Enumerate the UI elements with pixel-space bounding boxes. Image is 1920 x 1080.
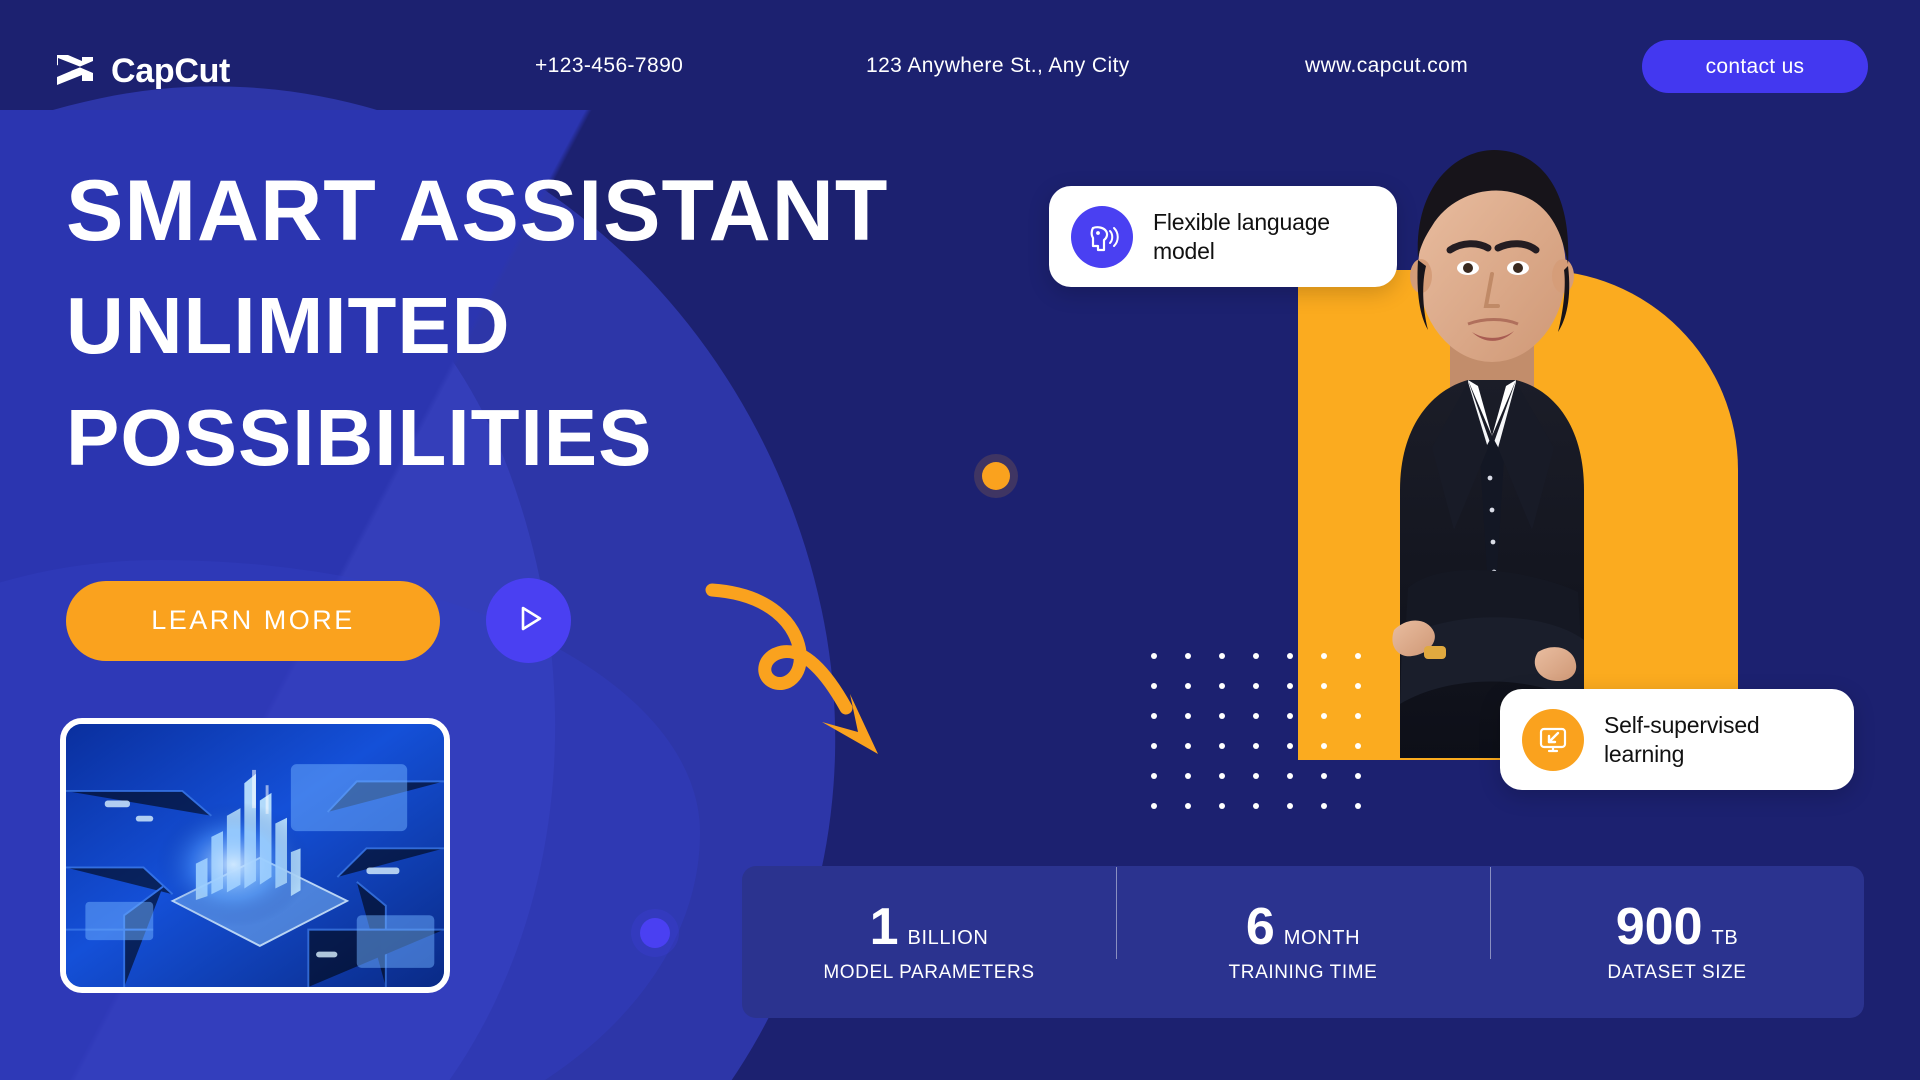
stat-caption: DATASET SIZE [1490,962,1864,984]
stat-unit: BILLION [908,927,989,950]
monitor-arrow-icon [1522,709,1584,771]
capcut-logo-icon [52,48,98,94]
feature-card-label: Self-supervised learning [1604,711,1824,769]
brand-logo[interactable]: CapCut [52,48,230,94]
stat-value: 900 [1616,901,1703,953]
stat-unit: MONTH [1284,927,1360,950]
feature-card-flexible-language-model[interactable]: Flexible language model [1049,186,1397,287]
hero-banner: CapCut +123-456-7890 123 Anywhere St., A… [0,0,1920,1080]
stat-value-row: 1 BILLION [742,901,1116,953]
stat-value: 6 [1246,901,1275,953]
cta-row: LEARN MORE [66,578,571,663]
feature-card-label: Flexible language model [1153,208,1367,266]
header-website[interactable]: www.capcut.com [1305,54,1468,78]
headline-line-1: SMART ASSISTANT [66,168,888,254]
stat-caption: MODEL PARAMETERS [742,962,1116,984]
stat-value-row: 900 TB [1490,901,1864,953]
stat-training-time: 6 MONTH TRAINING TIME [1116,901,1490,984]
feature-card-self-supervised-learning[interactable]: Self-supervised learning [1500,689,1854,790]
decorative-dot-blue [640,918,670,948]
header-address[interactable]: 123 Anywhere St., Any City [866,54,1130,78]
curved-arrow-icon [700,572,940,797]
play-icon [509,599,549,642]
stat-dataset-size: 900 TB DATASET SIZE [1490,901,1864,984]
stat-model-parameters: 1 BILLION MODEL PARAMETERS [742,901,1116,984]
header-phone[interactable]: +123-456-7890 [535,54,683,78]
stat-value-row: 6 MONTH [1116,901,1490,953]
stat-caption: TRAINING TIME [1116,962,1490,984]
decorative-dot-orange [982,462,1010,490]
tech-city-circuit-image[interactable] [60,718,450,993]
hero-headline: SMART ASSISTANT UNLIMITED POSSIBILITIES [66,168,888,478]
brand-logo-text: CapCut [111,52,230,91]
dotted-grid-pattern [1148,650,1386,812]
speaking-face-icon [1071,206,1133,268]
headline-line-3: POSSIBILITIES [66,398,888,478]
learn-more-button[interactable]: LEARN MORE [66,581,440,661]
header-bar: CapCut +123-456-7890 123 Anywhere St., A… [0,0,1920,128]
play-video-button[interactable] [486,578,571,663]
stat-value: 1 [870,901,899,953]
stats-bar: 1 BILLION MODEL PARAMETERS 6 MONTH TRAIN… [742,866,1864,1018]
contact-us-button[interactable]: contact us [1642,40,1868,93]
headline-line-2: UNLIMITED [66,286,888,366]
stat-unit: TB [1712,927,1739,950]
